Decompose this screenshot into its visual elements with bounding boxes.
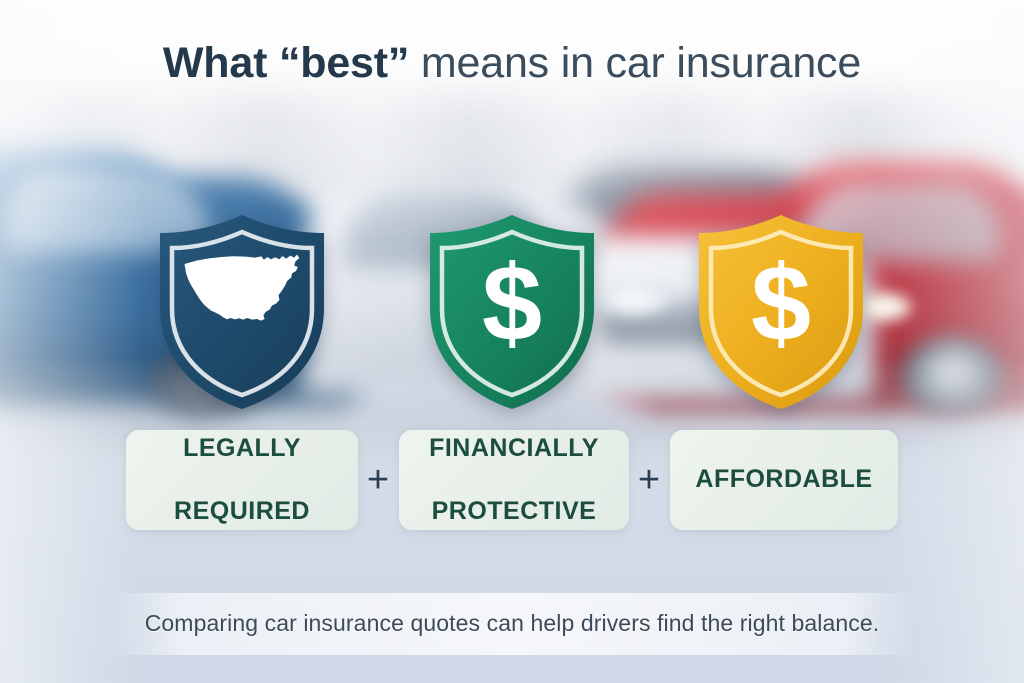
- footer-caption: Comparing car insurance quotes can help …: [0, 610, 1024, 637]
- plus-separator-1: +: [358, 430, 398, 530]
- shield-financially-protective: $: [421, 212, 603, 412]
- shield-affordable: $: [690, 212, 872, 412]
- criteria-label-line1: FINANCIALLY: [429, 433, 599, 465]
- criteria-pill-legally-required[interactable]: LEGALLYREQUIRED: [126, 430, 358, 530]
- criteria-label: AFFORDABLE: [695, 464, 872, 496]
- plus-separator-2: +: [629, 430, 669, 530]
- criteria-pill-financially-protective[interactable]: FINANCIALLYPROTECTIVE: [399, 430, 629, 530]
- page-title: What “best” means in car insurance: [0, 40, 1024, 86]
- dollar-sign-icon: $: [482, 242, 542, 363]
- shield-legally-required: [151, 212, 333, 412]
- criteria-label-line2: REQUIRED: [174, 496, 310, 528]
- criteria-label-line2: PROTECTIVE: [429, 496, 599, 528]
- infographic-canvas: What “best” means in car insurance: [0, 0, 1024, 683]
- criteria-row: LEGALLYREQUIRED + FINANCIALLYPROTECTIVE …: [0, 430, 1024, 530]
- criteria-pill-affordable[interactable]: AFFORDABLE: [670, 430, 898, 530]
- dollar-sign-icon: $: [751, 242, 811, 363]
- shield-row: $ $: [0, 212, 1024, 418]
- criteria-label: LEGALLYREQUIRED: [174, 433, 310, 528]
- page-title-rest: means in car insurance: [409, 39, 861, 87]
- criteria-label-line1: LEGALLY: [174, 433, 310, 465]
- page-title-emphasis: What “best”: [163, 39, 409, 87]
- criteria-label: FINANCIALLYPROTECTIVE: [429, 433, 599, 528]
